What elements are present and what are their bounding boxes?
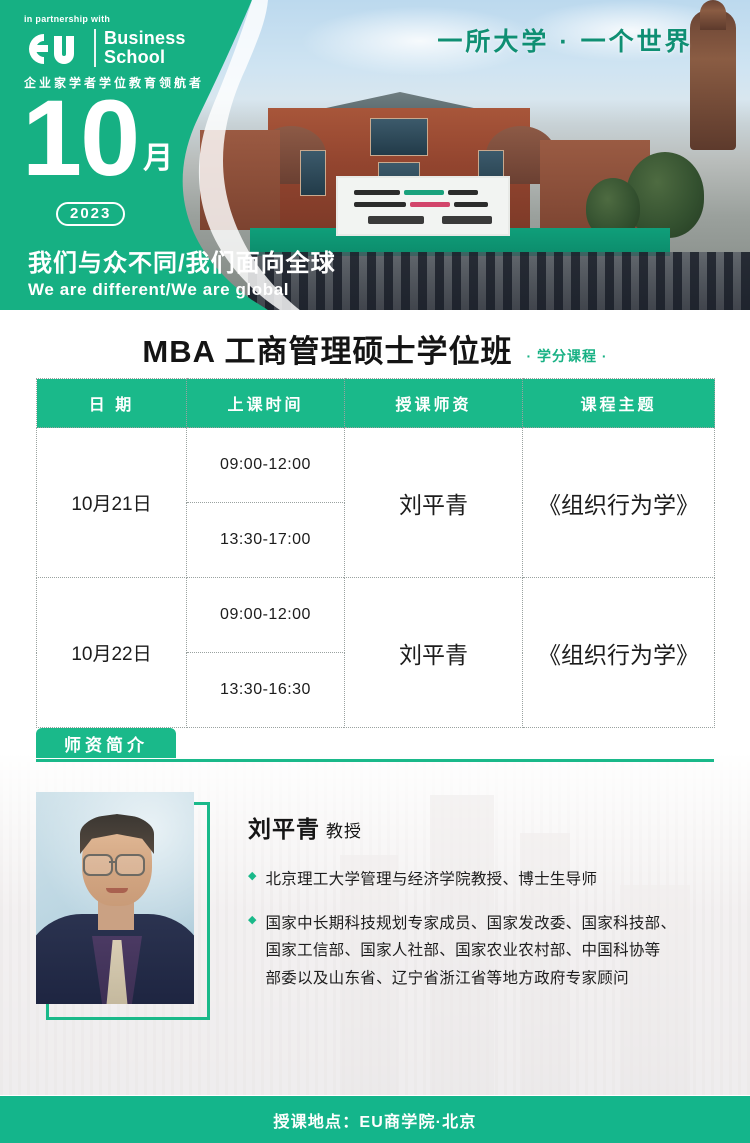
table-row: 10月21日 09:00-12:00 刘平青 《组织行为学》 [37, 428, 715, 503]
logo-name-line2: School [104, 48, 186, 67]
faculty-section-title: 师资简介 [36, 728, 176, 758]
logo-name-line1: Business [104, 29, 186, 48]
slogan-chinese: 我们与众不同/我们面向全球 [28, 243, 336, 278]
faculty-name: 刘平青 [248, 816, 320, 842]
bullet-line: 部委以及山东省、辽宁省浙江省等地方政府专家顾问 [265, 965, 676, 993]
cell-time: 13:30-17:00 [187, 503, 345, 578]
venue-text: 授课地点：EU商学院·北京 [273, 1108, 476, 1132]
main-content: MBA 工商管理硕士学位班 · 学分课程 · 日 期 上课时间 授课师资 课程主… [0, 310, 750, 1143]
faculty-bullet-text: 北京理工大学管理与经济学院教授、博士生导师 [265, 866, 597, 894]
schedule-table: 日 期 上课时间 授课师资 课程主题 10月21日 09:00-12:00 刘平… [36, 378, 715, 728]
cell-date: 10月21日 [37, 428, 187, 578]
footer-bar: 授课地点：EU商学院·北京 [0, 1096, 750, 1143]
cell-time: 13:30-16:30 [187, 653, 345, 728]
bullet-line: 国家工信部、国家人社部、国家农业农村部、中国科协等 [265, 937, 676, 965]
faculty-section-header: 师资简介 [36, 728, 714, 762]
glasses-icon [115, 854, 145, 876]
table-header-row: 日 期 上课时间 授课师资 课程主题 [37, 379, 715, 428]
logo-wordmark: Business School [104, 29, 186, 66]
university-tagline: 一所大学 · 一个世界 [405, 22, 725, 58]
page-title: MBA 工商管理硕士学位班 [142, 326, 512, 371]
header-banner: 一所大学 · 一个世界 in partnership with Business… [0, 0, 750, 310]
column-header-topic: 课程主题 [523, 379, 715, 428]
bullet-line: 国家中长期科技规划专家成员、国家发改委、国家科技部、 [265, 910, 676, 938]
column-header-date: 日 期 [37, 379, 187, 428]
cell-teacher: 刘平青 [345, 578, 523, 728]
logo-row: Business School [24, 28, 224, 68]
poster-root: 一所大学 · 一个世界 in partnership with Business… [0, 0, 750, 1143]
faculty-name-row: 刘平青教授 [248, 810, 676, 844]
diamond-bullet-icon: ◆ [248, 866, 256, 887]
portrait-mouth-shape [106, 888, 128, 893]
bullet-line: 北京理工大学管理与经济学院教授、博士生导师 [265, 866, 597, 894]
glasses-icon [83, 854, 113, 876]
program-title-row: MBA 工商管理硕士学位班 · 学分课程 · [0, 326, 750, 371]
table-row: 10月22日 09:00-12:00 刘平青 《组织行为学》 [37, 578, 715, 653]
partner-label: in partnership with [24, 14, 224, 24]
faculty-details: 刘平青教授 ◆ 北京理工大学管理与经济学院教授、博士生导师 ◆ 国家中长期科技规… [204, 792, 676, 1014]
faculty-portrait [36, 792, 194, 1004]
slogan-block: 我们与众不同/我们面向全球 We are different/We are gl… [28, 243, 336, 300]
faculty-bio: 刘平青教授 ◆ 北京理工大学管理与经济学院教授、博士生导师 ◆ 国家中长期科技规… [36, 792, 714, 1014]
section-divider [36, 759, 714, 762]
faculty-bullet-item: ◆ 北京理工大学管理与经济学院教授、博士生导师 [248, 866, 676, 894]
credit-course-badge: · 学分课程 · [526, 346, 607, 366]
cell-topic: 《组织行为学》 [523, 428, 715, 578]
faculty-role: 教授 [326, 822, 362, 841]
cell-date: 10月22日 [37, 578, 187, 728]
column-header-teacher: 授课师资 [345, 379, 523, 428]
cell-time: 09:00-12:00 [187, 578, 345, 653]
glasses-bridge-shape [109, 861, 115, 863]
month-unit: 月 [143, 133, 173, 177]
diamond-bullet-icon: ◆ [248, 910, 256, 931]
year-badge: 2023 [56, 202, 125, 226]
cell-teacher: 刘平青 [345, 428, 523, 578]
logo-divider [94, 29, 96, 67]
column-header-time: 上课时间 [187, 379, 345, 428]
cell-time: 09:00-12:00 [187, 428, 345, 503]
eu-logo-icon [24, 28, 86, 68]
slogan-english: We are different/We are global [28, 280, 336, 300]
month-number: 10 [22, 92, 138, 185]
faculty-bullet-text: 国家中长期科技规划专家成员、国家发改委、国家科技部、 国家工信部、国家人社部、国… [265, 910, 676, 993]
faculty-photo-wrap [36, 792, 204, 1014]
cell-topic: 《组织行为学》 [523, 578, 715, 728]
month-display: 10 月 [22, 92, 173, 185]
faculty-bullet-item: ◆ 国家中长期科技规划专家成员、国家发改委、国家科技部、 国家工信部、国家人社部… [248, 910, 676, 993]
